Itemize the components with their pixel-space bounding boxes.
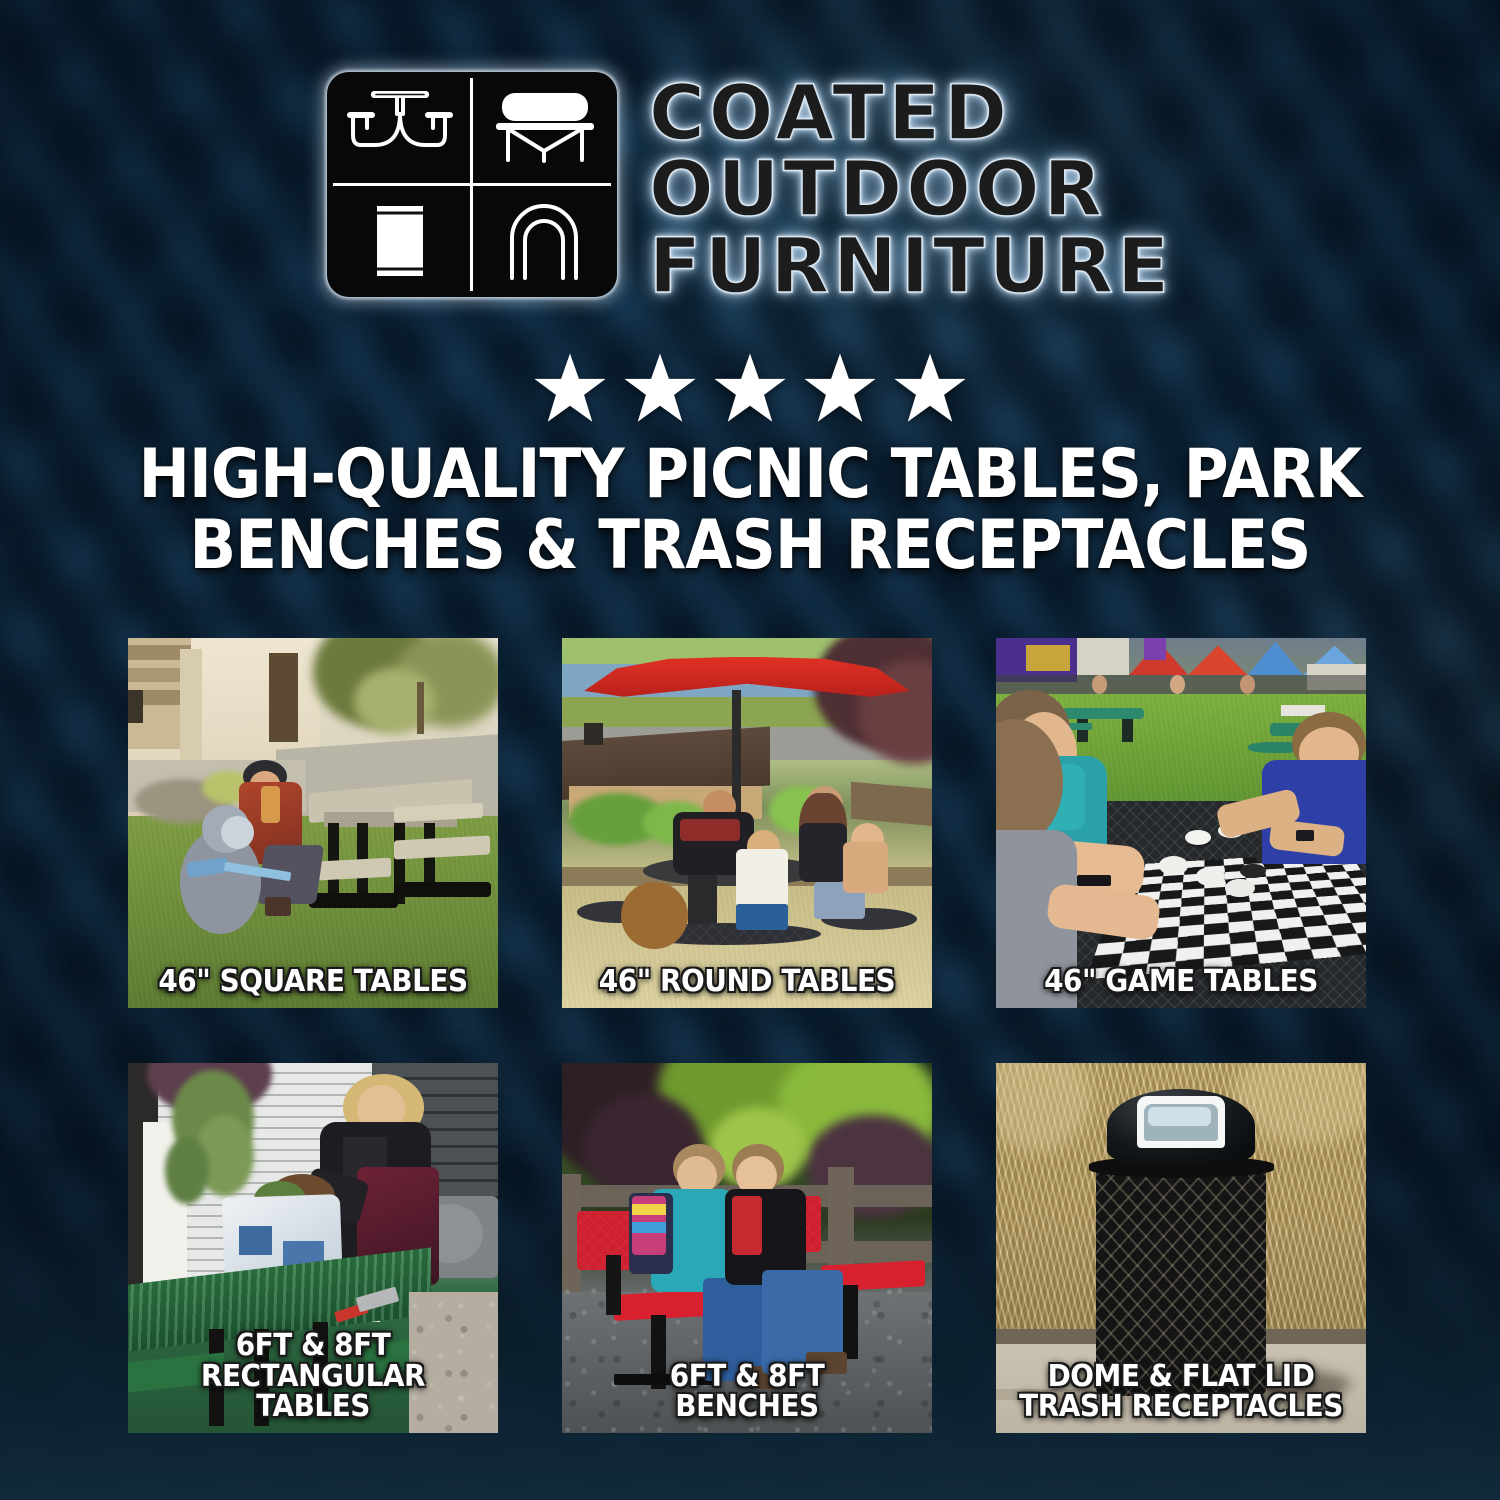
- product-photo-round-tables: [562, 638, 932, 1008]
- star-icon: [712, 352, 788, 424]
- star-icon: [622, 352, 698, 424]
- star-icon: [532, 352, 608, 424]
- logo-line-furniture: FURNITURE: [649, 229, 1173, 303]
- product-caption: 46" GAME TABLES: [1015, 967, 1348, 998]
- headline-line-2: BENCHES & TRASH RECEPTACLES: [129, 511, 1371, 582]
- product-caption: 46" ROUND TABLES: [581, 967, 914, 998]
- trash-receptacle-icon: [327, 185, 472, 298]
- product-tile-square-tables[interactable]: 46" SQUARE TABLES: [128, 638, 498, 1008]
- logo-line-outdoor: OUTDOOR: [649, 152, 1173, 226]
- page-title: HIGH-QUALITY PICNIC TABLES, PARK BENCHES…: [129, 440, 1371, 581]
- picnic-table-icon: [327, 72, 472, 185]
- brand-logo: COATED OUTDOOR FURNITURE: [0, 72, 1500, 303]
- product-photo-game-tables: [996, 638, 1366, 1008]
- product-caption: 6FT & 8FT RECTANGULAR TABLES: [147, 1331, 480, 1423]
- product-tile-benches[interactable]: 6FT & 8FT BENCHES: [562, 1063, 932, 1433]
- product-caption: 6FT & 8FT BENCHES: [581, 1362, 914, 1423]
- star-rating: [0, 352, 1500, 424]
- product-grid: 46" SQUARE TABLES: [128, 638, 1372, 1433]
- logo-icon-grid: [327, 72, 617, 297]
- product-caption: DOME & FLAT LID TRASH RECEPTACLES: [1015, 1362, 1348, 1423]
- park-bench-icon: [472, 72, 617, 185]
- star-icon: [892, 352, 968, 424]
- product-photo-square-tables: [128, 638, 498, 1008]
- headline-line-1: HIGH-QUALITY PICNIC TABLES, PARK: [129, 440, 1371, 511]
- product-tile-trash-receptacles[interactable]: DOME & FLAT LID TRASH RECEPTACLES: [996, 1063, 1366, 1433]
- bike-rack-icon: [472, 185, 617, 298]
- product-tile-round-tables[interactable]: 46" ROUND TABLES: [562, 638, 932, 1008]
- product-tile-rectangular-tables[interactable]: 6FT & 8FT RECTANGULAR TABLES: [128, 1063, 498, 1433]
- star-icon: [802, 352, 878, 424]
- logo-wordmark: COATED OUTDOOR FURNITURE: [649, 72, 1173, 303]
- product-tile-game-tables[interactable]: 46" GAME TABLES: [996, 638, 1366, 1008]
- logo-line-coated: COATED: [649, 76, 1173, 150]
- product-caption: 46" SQUARE TABLES: [147, 967, 480, 998]
